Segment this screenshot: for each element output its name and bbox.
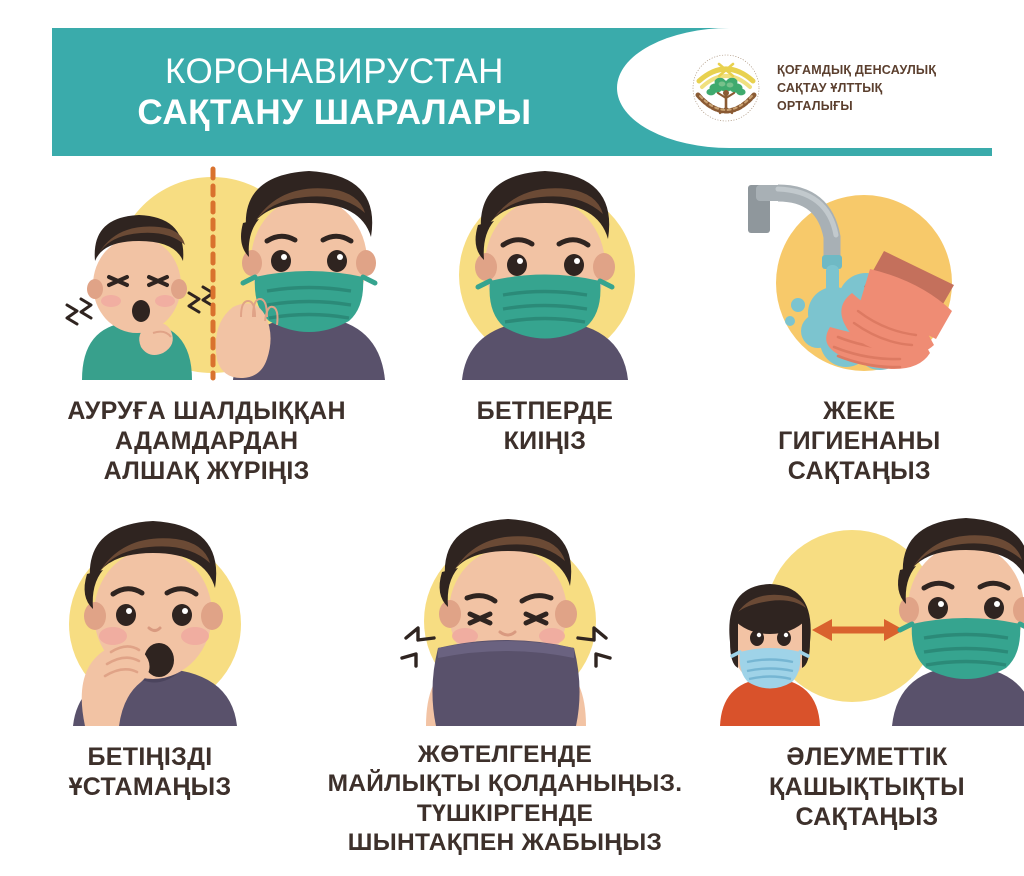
organization-name: ҚОҒАМДЫҚ ДЕНСАУЛЫҚ САҚТАУ ҰЛТТЫҚ ОРТАЛЫҒ… bbox=[777, 61, 936, 115]
panel-keep-distance-from-sick: АУРУҒА ШАЛДЫҚҚАН АДАМДАРДАН АЛШАҚ ЖҮРІҢІ… bbox=[18, 165, 395, 486]
panel-do-not-touch-face: БЕТІҢІЗДІ ҰСТАМАҢЫЗ bbox=[0, 516, 300, 858]
man-covering-mouth-with-tissue-illustration bbox=[370, 516, 640, 726]
organization-logo-icon bbox=[689, 51, 763, 125]
header-white-panel: ҚОҒАМДЫҚ ДЕНСАУЛЫҚ САҚТАУ ҰЛТТЫҚ ОРТАЛЫҒ… bbox=[617, 28, 992, 148]
panel-caption: АУРУҒА ШАЛДЫҚҚАН АДАМДАРДАН АЛШАҚ ЖҮРІҢІ… bbox=[67, 396, 345, 486]
panel-wear-a-mask: БЕТПЕРДЕ КИІҢІЗ bbox=[395, 165, 694, 486]
title-line-1: КОРОНАВИРУСТАН bbox=[165, 53, 504, 90]
panel-social-distance: ӘЛЕУМЕТТІК ҚАШЫҚТЫҚТЫ САҚТАҢЫЗ bbox=[710, 516, 1024, 858]
panel-personal-hygiene: ЖЕКЕ ГИГИЕНАНЫ САҚТАҢЫЗ bbox=[695, 165, 1024, 486]
washing-hands-under-faucet-illustration bbox=[734, 165, 984, 380]
advice-row-1: АУРУҒА ШАЛДЫҚҚАН АДАМДАРДАН АЛШАҚ ЖҮРІҢІ… bbox=[0, 165, 1024, 486]
panel-cover-cough: ЖӨТЕЛГЕНДЕ МАЙЛЫҚТЫ ҚОЛДАНЫҢЫЗ. ТҮШКІРГЕ… bbox=[300, 516, 710, 858]
title-line-2: САҚТАНУ ШАРАЛАРЫ bbox=[137, 94, 531, 131]
panel-caption: ЖӨТЕЛГЕНДЕ МАЙЛЫҚТЫ ҚОЛДАНЫҢЫЗ. ТҮШКІРГЕ… bbox=[328, 740, 683, 858]
sick-person-and-masked-man-with-dashed-barrier-illustration bbox=[37, 165, 377, 380]
org-line-1: ҚОҒАМДЫҚ ДЕНСАУЛЫҚ bbox=[777, 61, 936, 79]
advice-grid: АУРУҒА ШАЛДЫҚҚАН АДАМДАРДАН АЛШАҚ ЖҮРІҢІ… bbox=[0, 165, 1024, 858]
panel-caption: БЕТІҢІЗДІ ҰСТАМАҢЫЗ bbox=[69, 742, 232, 802]
panel-caption: ӘЛЕУМЕТТІК ҚАШЫҚТЫҚТЫ САҚТАҢЫЗ bbox=[769, 742, 965, 832]
poster-header: КОРОНАВИРУСТАН САҚТАНУ ШАРАЛАРЫ bbox=[52, 28, 992, 156]
man-wearing-surgical-mask-illustration bbox=[420, 165, 670, 380]
header-title-block: КОРОНАВИРУСТАН САҚТАНУ ШАРАЛАРЫ bbox=[52, 28, 617, 156]
poster-root: КОРОНАВИРУСТАН САҚТАНУ ШАРАЛАРЫ bbox=[0, 0, 1024, 876]
org-line-2: САҚТАУ ҰЛТТЫҚ bbox=[777, 79, 936, 97]
man-touching-his-face-illustration bbox=[25, 516, 275, 726]
advice-row-2: БЕТІҢІЗДІ ҰСТАМАҢЫЗ bbox=[0, 516, 1024, 858]
panel-caption: ЖЕКЕ ГИГИЕНАНЫ САҚТАҢЫЗ bbox=[778, 396, 940, 486]
two-masked-people-with-distance-arrow-illustration bbox=[702, 516, 1024, 726]
panel-caption: БЕТПЕРДЕ КИІҢІЗ bbox=[477, 396, 614, 456]
org-line-3: ОРТАЛЫҒЫ bbox=[777, 97, 936, 115]
